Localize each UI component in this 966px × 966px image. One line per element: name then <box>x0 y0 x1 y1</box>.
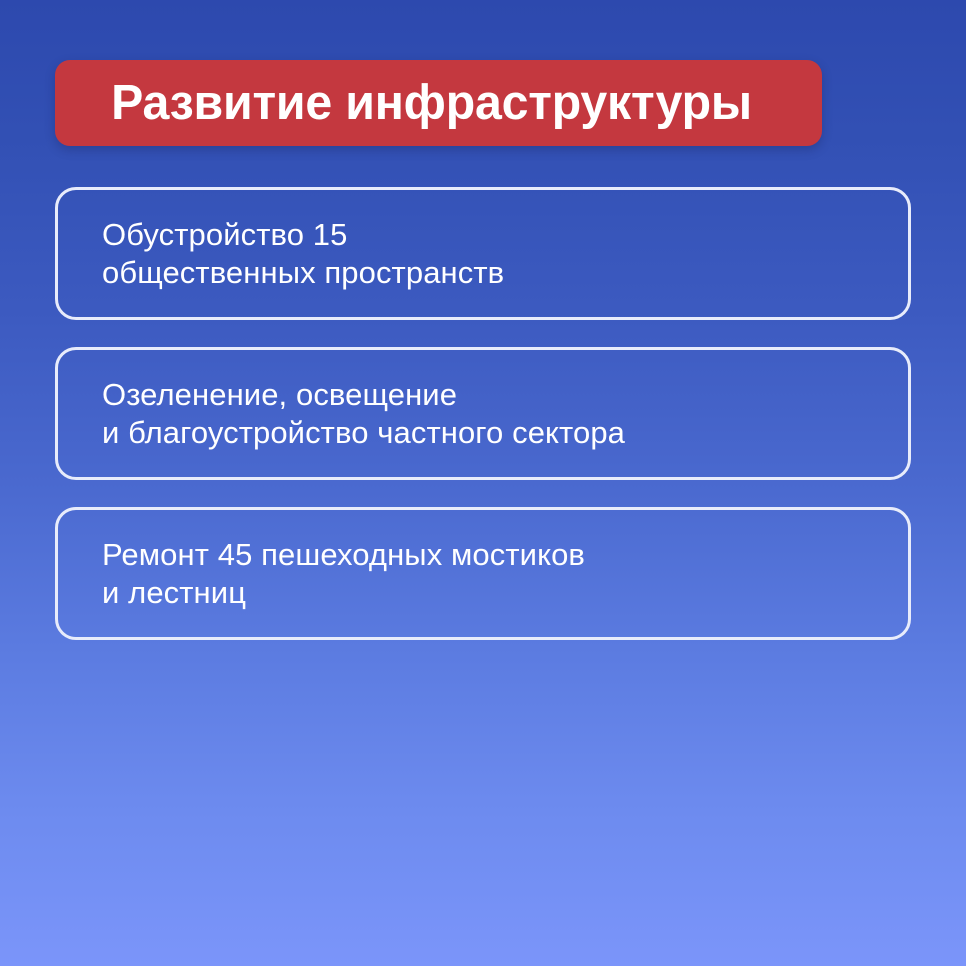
infographic-slide: Развитие инфраструктуры Обустройство 15 … <box>0 0 966 966</box>
bullet-card-text: Ремонт 45 пешеходных мостиков и лестниц <box>58 536 605 612</box>
bullet-card-list: Обустройство 15 общественных пространств… <box>55 187 911 640</box>
bullet-card: Озеленение, освещение и благоустройство … <box>55 347 911 480</box>
title-badge: Развитие инфраструктуры <box>55 60 822 146</box>
bullet-card-text: Озеленение, освещение и благоустройство … <box>58 376 645 452</box>
bullet-card-text: Обустройство 15 общественных пространств <box>58 216 524 292</box>
bullet-card: Обустройство 15 общественных пространств <box>55 187 911 320</box>
page-title: Развитие инфраструктуры <box>55 79 752 128</box>
bullet-card: Ремонт 45 пешеходных мостиков и лестниц <box>55 507 911 640</box>
